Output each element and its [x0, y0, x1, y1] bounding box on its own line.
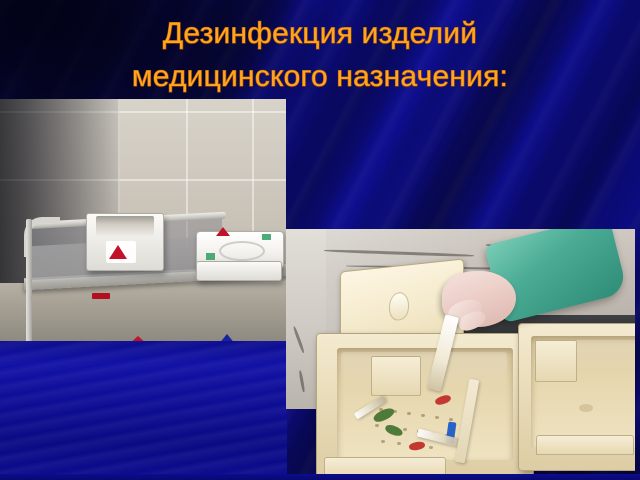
perforation-hole [375, 424, 379, 427]
left-photo-trolley-with-disinfection-containers [0, 99, 286, 341]
perforation-hole [429, 446, 433, 449]
container-top-right-closed [196, 231, 282, 279]
wall-tile-line [252, 99, 254, 249]
bottom-accent-strip [0, 474, 640, 480]
perforation-hole [449, 418, 453, 421]
right-photo-gloved-hand-placing-syringe [286, 229, 635, 478]
red-triangle-icon [128, 336, 148, 341]
blue-fill-panel [0, 340, 287, 476]
red-triangle-icon [109, 245, 127, 259]
container-open-interior [96, 216, 154, 236]
left-tray [316, 333, 534, 477]
perforation-hole [435, 416, 439, 419]
red-triangle-icon [216, 227, 230, 236]
container-body [196, 261, 282, 281]
floor [0, 283, 286, 341]
perforation-hole [403, 428, 407, 431]
solution-surface-sheen [341, 352, 507, 386]
perforation-hole [407, 412, 411, 415]
green-label [262, 234, 271, 240]
blue-triangle-icon [218, 334, 236, 341]
container-top-left-open [86, 213, 164, 271]
perforation-hole [421, 414, 425, 417]
shelf-red-marker-icon [92, 293, 110, 299]
right-tray-divider [535, 340, 577, 382]
tray-item [579, 404, 593, 412]
trolley-post-left [26, 219, 32, 341]
right-tray-front-lip [536, 435, 634, 455]
lid-oval-emboss [219, 241, 265, 261]
lid-handle-knob [389, 291, 409, 321]
perforation-hole [381, 440, 385, 443]
perforation-hole [397, 442, 401, 445]
green-label [206, 253, 215, 260]
slide: Дезинфекция изделий медицинского назначе… [0, 0, 640, 480]
left-tray-divider [371, 356, 421, 396]
